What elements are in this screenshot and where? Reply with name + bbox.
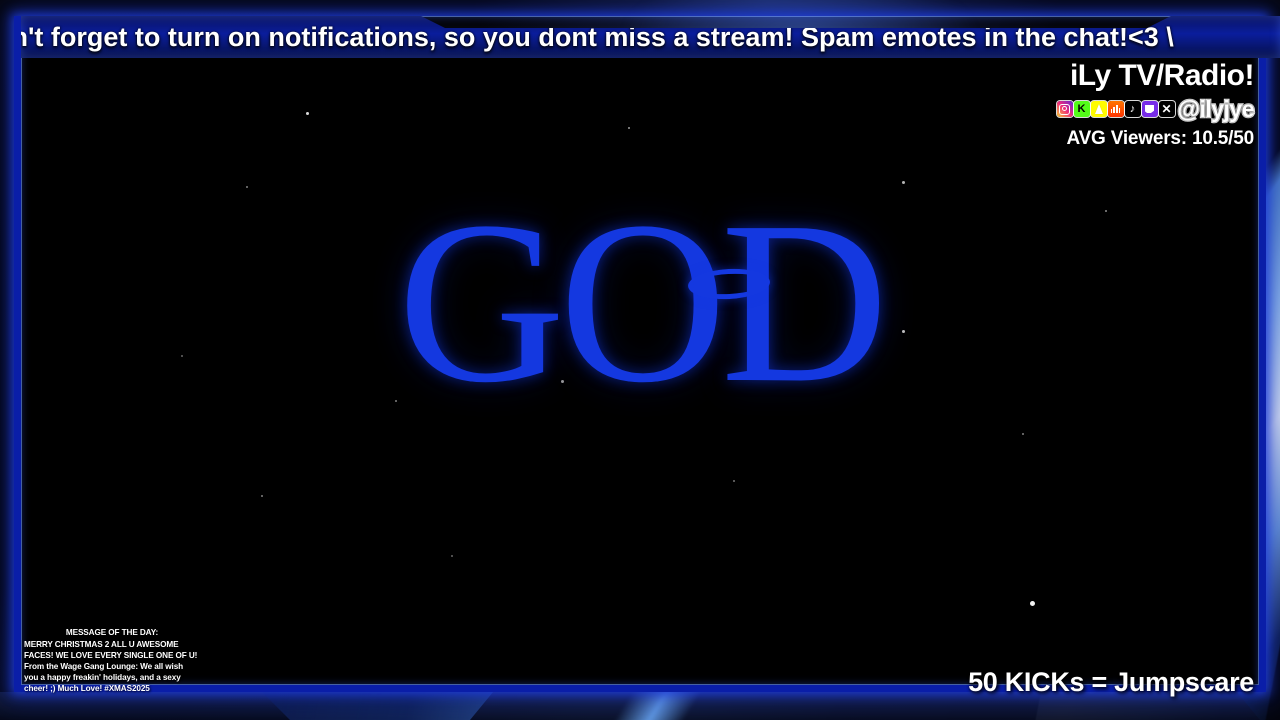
twitch-icon[interactable] xyxy=(1142,101,1158,117)
snapchat-icon[interactable] xyxy=(1091,101,1107,117)
star xyxy=(1105,210,1107,212)
motd-line-1: MERRY CHRISTMAS 2 ALL U AWESOME xyxy=(24,639,200,650)
star xyxy=(451,555,453,557)
goal-label: 50 KICKs = Jumpscare xyxy=(968,667,1254,698)
social-icon-row: K ♪ ✕ @ilyjye xyxy=(1004,98,1254,121)
star xyxy=(1030,601,1035,606)
channel-title: iLy TV/Radio! xyxy=(1004,60,1254,92)
star xyxy=(902,181,905,184)
kick-icon[interactable]: K xyxy=(1074,101,1090,117)
star xyxy=(246,186,248,188)
branding-block: iLy TV/Radio! K ♪ ✕ @ilyjye AVG Viewers:… xyxy=(1004,60,1254,150)
tiktok-icon[interactable]: ♪ xyxy=(1125,101,1141,117)
motd-line-4: you a happy freakin' holidays, and a sex… xyxy=(24,672,200,683)
god-logo-text: GOD xyxy=(398,187,883,419)
message-of-the-day: MESSAGE OF THE DAY: MERRY CHRISTMAS 2 AL… xyxy=(24,627,200,694)
star xyxy=(261,495,263,497)
soundcloud-icon[interactable] xyxy=(1108,101,1124,117)
motd-line-5: cheer! ;) Much Love! #XMAS2025 xyxy=(24,683,200,694)
video-capture-area: GOD xyxy=(21,55,1259,685)
star xyxy=(781,235,783,237)
star xyxy=(628,127,630,129)
motd-line-3: From the Wage Gang Lounge: We all wish xyxy=(24,661,200,672)
halo-icon xyxy=(687,267,770,301)
god-logo: GOD xyxy=(21,55,1259,685)
star xyxy=(561,380,564,383)
star xyxy=(733,480,735,482)
motd-title: MESSAGE OF THE DAY: xyxy=(24,627,200,638)
x-icon[interactable]: ✕ xyxy=(1159,101,1175,117)
instagram-icon[interactable] xyxy=(1057,101,1073,117)
star xyxy=(902,330,905,333)
avg-viewers-label: AVG Viewers: 10.5/50 xyxy=(1004,128,1254,150)
star xyxy=(1022,433,1024,435)
star xyxy=(181,355,183,357)
social-handle: @ilyjye xyxy=(1178,98,1254,121)
stream-overlay-screen: GOD on't forget to turn on notifications… xyxy=(0,0,1280,720)
star xyxy=(306,112,309,115)
star xyxy=(395,400,397,402)
motd-line-2: FACES! WE LOVE EVERY SINGLE ONE OF U! xyxy=(24,650,200,661)
